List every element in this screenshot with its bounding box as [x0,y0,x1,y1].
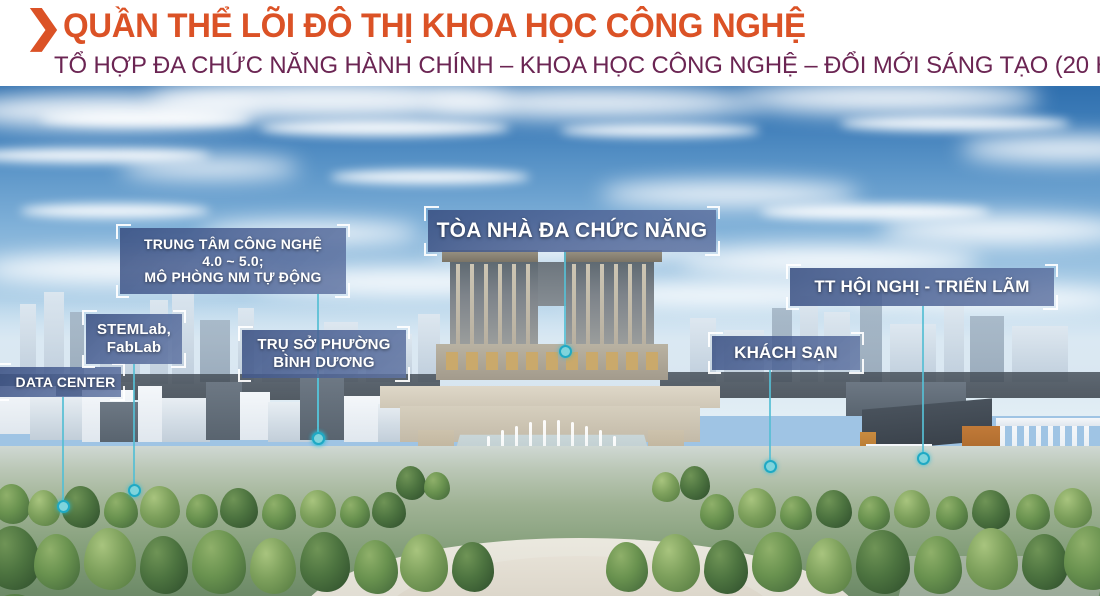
tower-fin [484,264,488,344]
tower-fin [600,264,604,344]
callout-label: TRỤ SỞ PHƯỜNG BÌNH DƯƠNG [242,336,406,372]
tower-fin [614,264,618,344]
tower-fin [572,264,576,344]
leader-line [133,364,135,490]
tower-fin [512,264,516,344]
tree [936,496,968,530]
tree [652,472,680,502]
podium-window [546,352,558,370]
tree [858,496,890,530]
cloud [600,182,860,206]
callout-label: TT HỘI NGHỊ - TRIỂN LÃM [790,277,1054,297]
callout-tru-so-phuong-binh-duong[interactable]: TRỤ SỞ PHƯỜNG BÌNH DƯƠNG [242,330,406,378]
skyline-tower [944,304,964,382]
callout-label: TÒA NHÀ ĐA CHỨC NĂNG [428,218,716,243]
building-block [162,398,210,442]
skyline-tower [200,320,230,382]
tower-fin [642,264,646,344]
cloud [120,158,300,178]
callout-khach-san[interactable]: KHÁCH SẠN [712,336,860,370]
leader-line [769,370,771,466]
tower-left-wing [450,262,538,344]
tower-fin [526,264,530,344]
podium-window [586,352,598,370]
callout-toa-nha-da-chuc-nang[interactable]: TÒA NHÀ ĐA CHỨC NĂNG [428,210,716,252]
marker-data-center-icon[interactable] [57,500,70,513]
podium-window [446,352,458,370]
colonnade-roof [996,418,1100,426]
marker-tt-hoi-nghi-icon[interactable] [917,452,930,465]
building-block [240,392,270,440]
cloud [560,124,760,137]
tower-right-wing [566,262,654,344]
callout-label: STEMLab, FabLab [86,321,182,357]
cloud [430,88,760,118]
slide-root: ❯ QUẦN THỂ LÕI ĐÔ THỊ KHOA HỌC CÔNG NGHỆ… [0,0,1100,596]
tree [396,466,426,500]
cloud [20,204,210,218]
podium-window [526,352,538,370]
tree [780,496,812,530]
building-block [138,386,162,442]
callout-label: TRUNG TÂM CÔNG NGHỆ 4.0 ~ 5.0; MÔ PHÒNG … [120,236,346,286]
tower-fin [498,264,502,344]
tree [340,496,370,528]
cloud [840,116,1070,131]
tower-skybridge [538,262,566,306]
slide-header: ❯ QUẦN THỂ LÕI ĐÔ THỊ KHOA HỌC CÔNG NGHỆ… [0,0,1100,86]
podium-window [606,352,618,370]
leader-line [922,306,924,458]
tower-fin [628,264,632,344]
page-subtitle: TỔ HỢP ĐA CHỨC NĂNG HÀNH CHÍNH – KHOA HỌ… [54,52,1100,79]
tower-fin [470,264,474,344]
callout-label: KHÁCH SẠN [712,343,860,363]
tower-fin [456,264,460,344]
marker-khach-san-icon[interactable] [764,460,777,473]
marker-toa-nha-icon[interactable] [559,345,572,358]
leader-line [564,252,566,351]
leader-line [62,397,64,506]
plaza-terrace [380,386,720,408]
title-row: ❯ QUẦN THỂ LÕI ĐÔ THỊ KHOA HỌC CÔNG NGHỆ [28,8,829,45]
podium-window [466,352,478,370]
podium-window [506,352,518,370]
callout-trung-tam-cong-nghe[interactable]: TRUNG TÂM CÔNG NGHỆ 4.0 ~ 5.0; MÔ PHÒNG … [120,228,346,294]
building-block [30,396,86,440]
tree [186,494,218,528]
building-block [206,382,242,440]
callout-label: DATA CENTER [10,374,121,391]
podium-window [486,352,498,370]
cloud [330,170,530,184]
leader-line [317,378,319,438]
tree [680,466,710,500]
page-title: QUẦN THỂ LÕI ĐÔ THỊ KHOA HỌC CÔNG NGHỆ [63,8,806,45]
tree [424,472,450,500]
marker-stemlab-icon[interactable] [128,484,141,497]
callout-data-center[interactable]: DATA CENTER [0,367,121,397]
marker-tru-so-icon[interactable] [312,432,325,445]
building-block [344,396,380,442]
callout-tt-hoi-nghi-trien-lam[interactable]: TT HỘI NGHỊ - TRIỂN LÃM [790,268,1054,306]
podium-window [646,352,658,370]
podium-window [626,352,638,370]
building-block [300,378,344,440]
tower-fin [586,264,590,344]
callout-stemlab-fablab[interactable]: STEMLab, FabLab [86,314,182,364]
title-arrow-icon: ❯ [24,5,63,48]
rendering-image: DATA CENTERSTEMLab, FabLabTRUNG TÂM CÔNG… [0,86,1100,596]
cloud [260,120,510,136]
